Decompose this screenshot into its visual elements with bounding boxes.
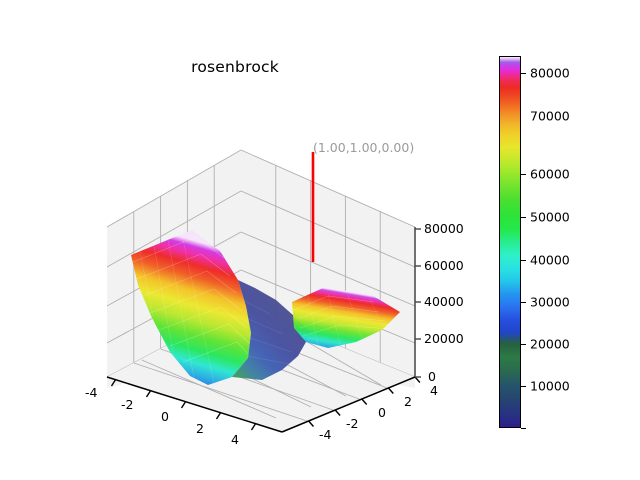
z-axis-ticks — [415, 229, 421, 377]
x-tick-label: 2 — [196, 421, 204, 436]
x-tick-label: 0 — [161, 409, 169, 424]
point-annotation-label: (1.00,1.00,0.00) — [313, 140, 414, 155]
x-tick-label: -4 — [85, 385, 97, 400]
y-tick-label: 0 — [378, 405, 386, 420]
z-tick-label: 60000 — [424, 258, 464, 273]
colorbar-tick-label: 70000 — [530, 109, 570, 124]
z-tick-label: 80000 — [424, 221, 464, 236]
y-tick-label: 4 — [430, 383, 438, 398]
y-tick-label: 2 — [404, 394, 412, 409]
colorbar-tick — [521, 260, 526, 261]
z-tick-label: 20000 — [424, 331, 464, 346]
colorbar-tick-label: 80000 — [530, 66, 570, 81]
colorbar-tick-label: 20000 — [530, 337, 570, 352]
surface-plot-canvas — [70, 80, 470, 440]
colorbar-tick — [521, 344, 526, 345]
surface-plot-axes: -4 -2 0 2 4 -4 -2 0 2 4 0 20000 40000 60… — [70, 80, 470, 440]
colorbar-tick — [521, 386, 526, 387]
colorbar[interactable]: 10000 20000 30000 40000 50000 60000 7000… — [499, 56, 521, 428]
y-tick-label: -4 — [319, 427, 331, 442]
colorbar-tick — [521, 428, 526, 429]
colorbar-tick — [521, 174, 526, 175]
colorbar-tick-label: 10000 — [530, 379, 570, 394]
colorbar-tick — [521, 302, 526, 303]
colorbar-tick-label: 40000 — [530, 253, 570, 268]
x-tick-label: 4 — [231, 432, 239, 447]
page-title: rosenbrock — [0, 58, 470, 76]
z-tick-label: 0 — [428, 369, 436, 384]
colorbar-gradient — [499, 56, 521, 428]
colorbar-tick-label: 30000 — [530, 295, 570, 310]
colorbar-tick — [521, 217, 526, 218]
y-tick-label: -2 — [346, 416, 358, 431]
matplotlib-figure: rosenbrock — [0, 0, 640, 480]
z-tick-label: 40000 — [424, 294, 464, 309]
colorbar-tick-label: 60000 — [530, 167, 570, 182]
x-tick-label: -2 — [121, 397, 133, 412]
colorbar-tick — [521, 73, 526, 74]
colorbar-tick-label: 50000 — [530, 210, 570, 225]
